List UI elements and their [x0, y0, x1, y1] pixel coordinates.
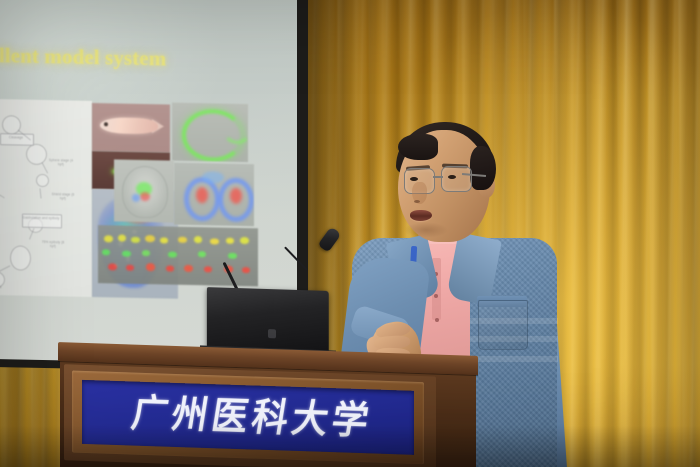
- eyeglasses-bridge: [433, 176, 443, 178]
- speaker-eye-left: [410, 177, 418, 181]
- speaker-eye-right: [448, 175, 456, 179]
- foreground-shadow: [0, 425, 700, 467]
- presentation-photo-scene: cellent model system Cleavage Gastrulati…: [0, 0, 700, 467]
- shirt-pocket: [478, 300, 528, 350]
- speaker-nostril: [414, 200, 420, 203]
- eyeglasses-right-lens: [441, 166, 472, 192]
- speaker-hair-front: [398, 134, 438, 160]
- speaker-hair-side: [470, 146, 496, 190]
- speaker-chin-shadow: [404, 222, 448, 238]
